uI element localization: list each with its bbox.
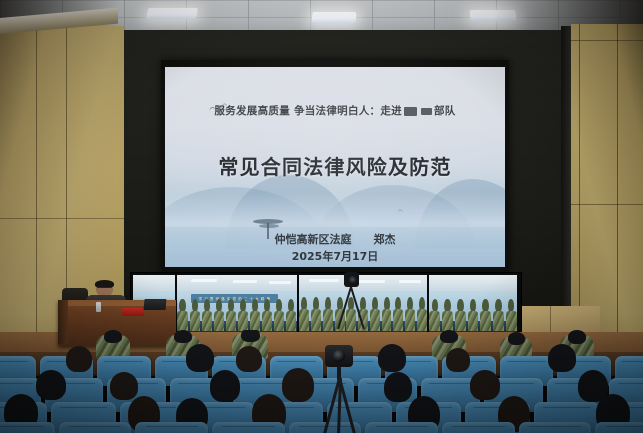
ceiling-light-1 [146,8,198,19]
seat[interactable] [59,422,132,433]
video-wall-display: 学 习 贯 彻 落 实 党 的 二 十 大 精 神 [130,272,522,336]
audience-head [446,348,470,372]
audience-head [66,346,92,372]
redaction-block-1 [404,107,417,116]
slide-subtitle: 服务发展高质量 争当法律明白人：走进部队 [165,103,505,118]
camera-lens-icon [349,276,356,283]
seat[interactable] [0,422,55,433]
seat[interactable] [595,422,643,433]
audience-head [241,330,260,342]
presenter-org: 仲恺高新区法庭 [275,233,352,246]
wall-seam [36,26,37,356]
secondary-camera-tripod [334,272,368,334]
audience-head [210,370,240,402]
wall-seam [571,40,643,41]
right-wood-wall [571,24,643,354]
audience-head [508,332,525,345]
projection-screen: 服务发展高质量 争当法律明白人：走进部队 常见合同法律风险及防范 仲恺高新区法庭… [161,60,509,272]
seat[interactable] [212,422,285,433]
audience-head [110,372,138,400]
audience-head [548,344,576,372]
right-wall-shadow-edge [561,26,571,350]
redaction-block-2 [421,108,432,115]
audience-head [470,370,500,400]
wall-seam [579,24,580,354]
audience-head [568,330,586,344]
video-wall-panel [429,275,517,333]
slide-subtitle-after: 部队 [434,105,456,117]
audience-head [378,344,406,372]
glasses-icon [97,287,112,291]
audience-head [384,372,412,402]
name-plate [122,308,144,316]
camera-lens-icon [333,350,345,362]
slide-presenter-line: 仲恺高新区法庭郑杰 [165,231,505,247]
slide-text-layer: 服务发展高质量 争当法律明白人：走进部队 常见合同法律风险及防范 仲恺高新区法庭… [165,67,505,267]
video-wall-person-row [429,299,517,331]
seat[interactable] [365,422,438,433]
camera-tripod [316,345,362,433]
video-wall-person-row [177,299,297,331]
audience-head [186,344,214,372]
laptop-device [144,299,167,310]
wall-seam [571,204,643,205]
slide-main-title: 常见合同法律风险及防范 [165,151,505,180]
audience-head [440,330,458,343]
audience-head [36,370,66,400]
seat[interactable] [519,422,592,433]
audience-head [282,368,314,402]
slide-date: 2025年7月17日 [165,248,505,264]
slide-subtitle-before: 服务发展高质量 争当法律明白人：走进 [214,105,402,117]
wall-seam [0,218,124,219]
conference-hall-photo: 服务发展高质量 争当法律明白人：走进部队 常见合同法律风险及防范 仲恺高新区法庭… [0,0,643,433]
presenter-name: 郑杰 [374,233,396,246]
ceiling-light-2 [312,12,357,23]
audience-head [236,346,262,372]
audience-head [174,330,192,343]
audience-head [104,330,122,343]
wall-seam [617,24,618,354]
seat[interactable] [135,422,208,433]
water-bottle [96,302,101,312]
presentation-slide: 服务发展高质量 争当法律明白人：走进部队 常见合同法律风险及防范 仲恺高新区法庭… [165,67,505,267]
video-wall-panel: 学 习 贯 彻 落 实 党 的 二 十 大 精 神 [177,275,297,333]
seat[interactable] [442,422,515,433]
